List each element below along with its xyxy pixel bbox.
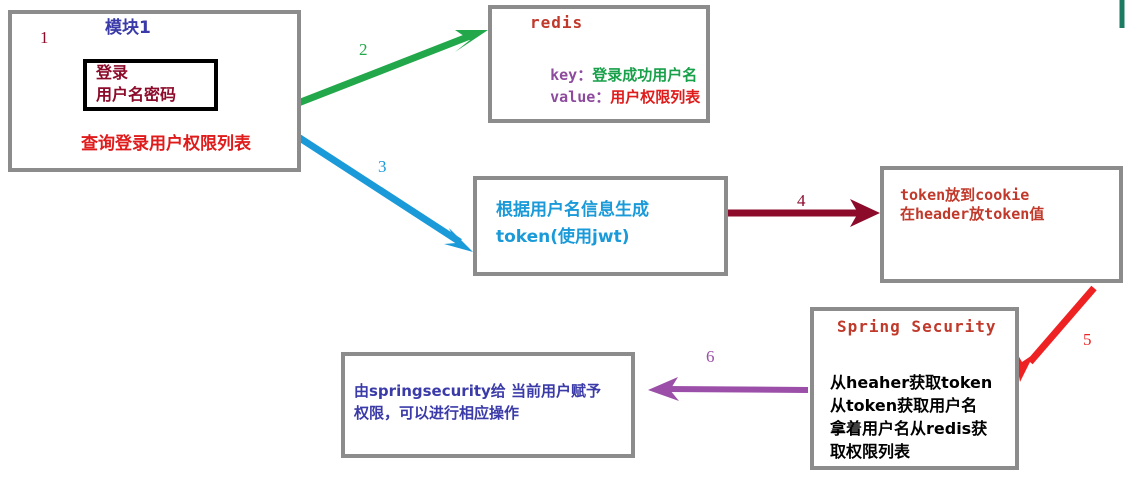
arrow-label-3: 3 [378,157,387,177]
redis-value-label: value： [550,88,610,106]
login-line2: 用户名密码 [96,85,176,105]
redis-value-row: value：用户权限列表 [514,70,700,125]
arrow-6 [648,377,808,401]
box-cookie-header[interactable] [880,166,1123,283]
spring-security-line1: 从heaher获取token [830,373,992,393]
arrow-2 [288,30,488,107]
arrow-5 [1014,288,1094,382]
spring-security-line3: 拿着用户名从redis获 [830,419,987,439]
token-line1: 根据用户名信息生成 [496,200,649,221]
module1-footer: 查询登录用户权限列表 [81,134,251,155]
redis-value-value: 用户权限列表 [610,88,700,106]
spring-security-line4: 取权限列表 [830,442,910,462]
arrow-label-1: 1 [40,28,49,48]
box-token-generate[interactable] [473,176,728,276]
grant-line1: 由springsecurity给 当前用户赋予 [354,382,601,400]
arrow-label-2: 2 [359,40,368,60]
grant-line2: 权限，可以进行相应操作 [354,404,519,422]
login-line1: 登录 [96,63,128,83]
spring-security-title: Spring Security [837,317,997,337]
arrow-label-6: 6 [706,347,715,367]
redis-title: redis [530,13,583,33]
arrow-label-5: 5 [1083,330,1092,350]
arrow-label-4: 4 [797,191,806,211]
module1-title: 模块1 [105,18,151,39]
token-line2: token(使用jwt) [496,227,630,248]
cookie-line2: 在header放token值 [900,205,1044,223]
cookie-line1: token放到cookie [900,186,1029,204]
spring-security-line2: 从token获取用户名 [830,396,977,416]
arrow-3 [289,131,473,252]
diagram-canvas: 模块1 登录 用户名密码 查询登录用户权限列表 redis key：登录成功用户… [0,0,1131,482]
